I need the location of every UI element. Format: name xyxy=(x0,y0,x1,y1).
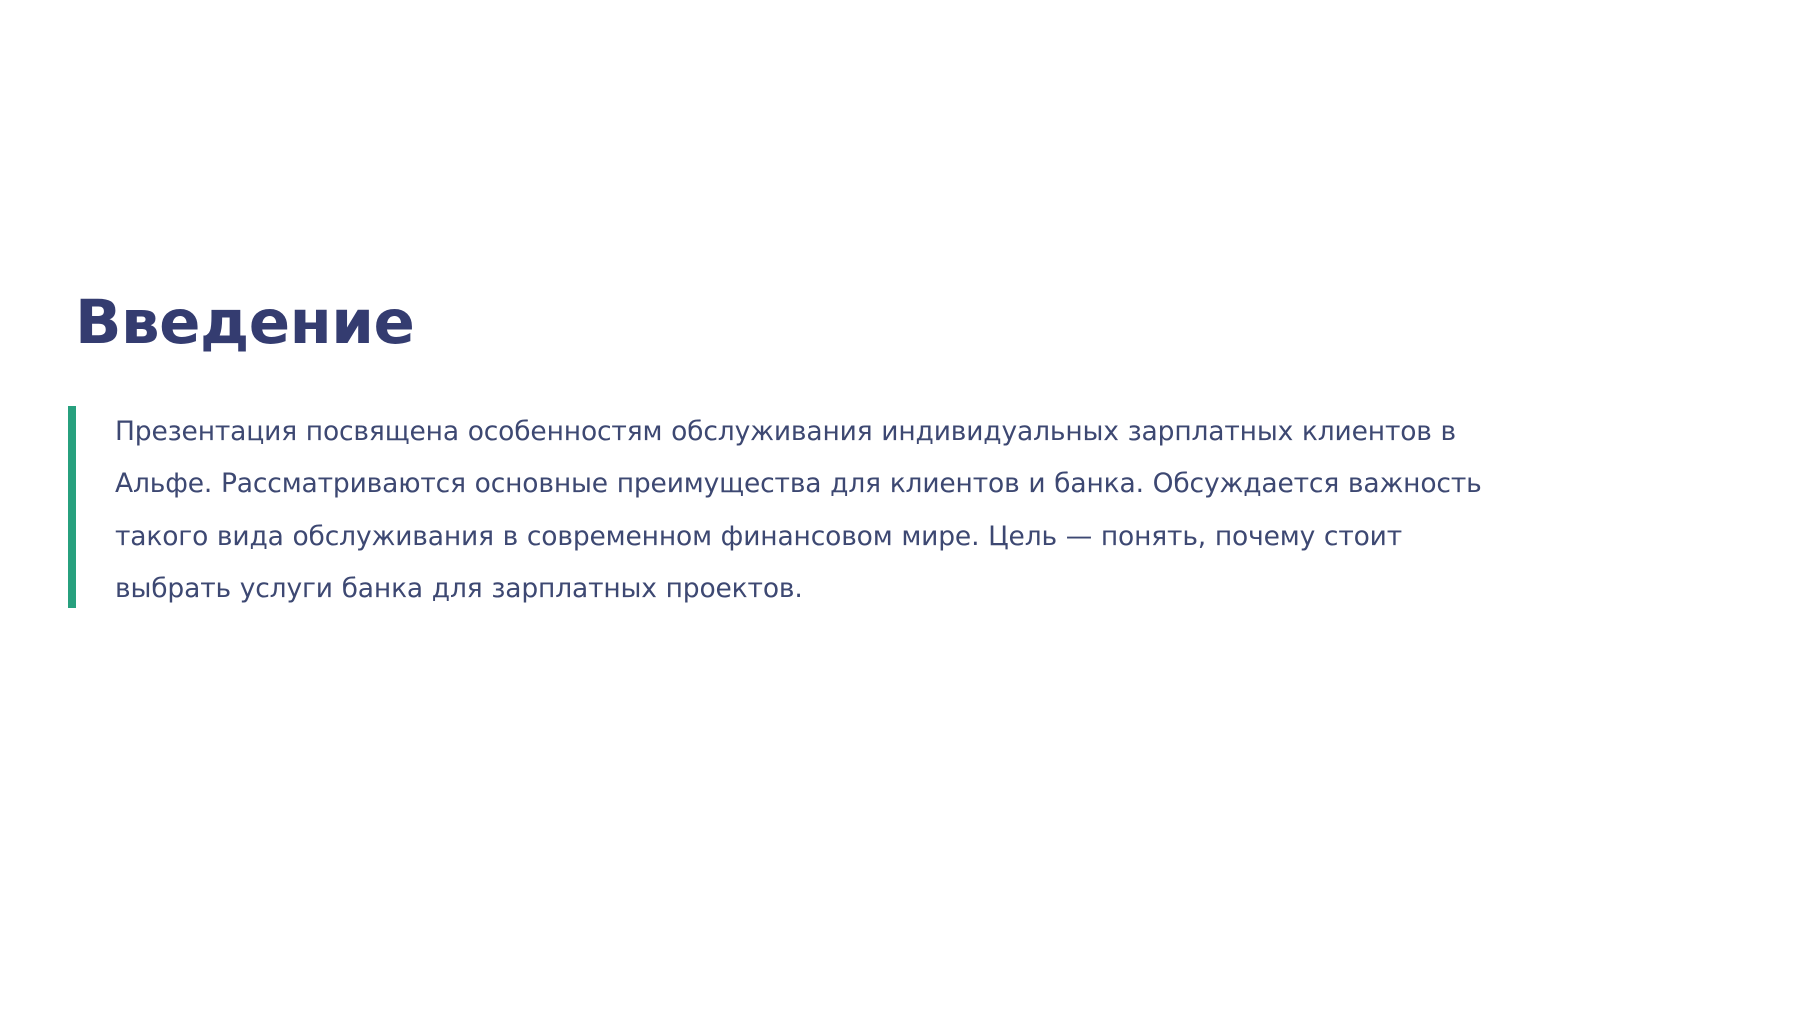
page-title: Введение xyxy=(68,290,1628,356)
accent-bar xyxy=(68,406,76,608)
body-paragraph: Презентация посвящена особенностям обслу… xyxy=(115,406,1510,616)
slide-content-container: Введение Презентация посвящена особеннос… xyxy=(68,290,1628,616)
body-text-block: Презентация посвящена особенностям обслу… xyxy=(68,406,1628,616)
presentation-slide: Введение Презентация посвящена особеннос… xyxy=(0,0,1800,1013)
